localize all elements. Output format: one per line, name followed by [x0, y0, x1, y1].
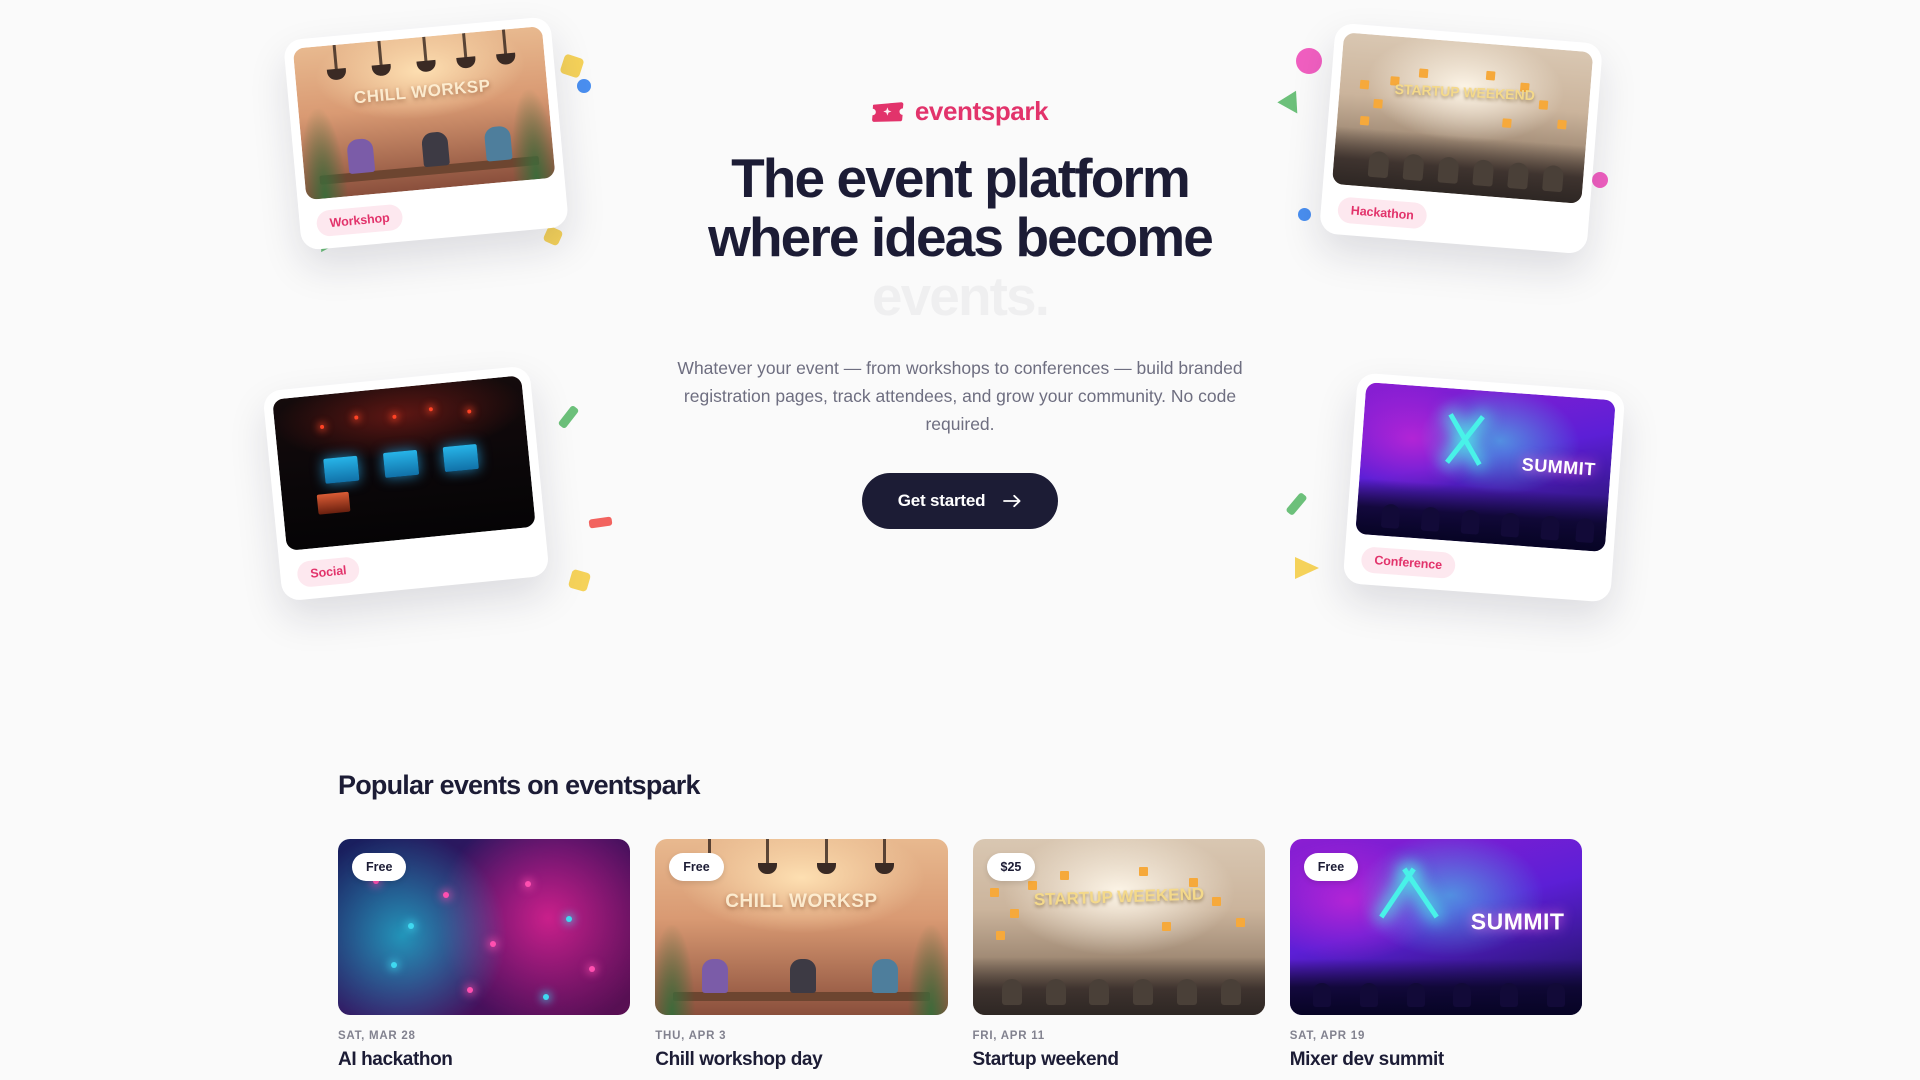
page-title: The event platform where ideas become ev…: [650, 149, 1270, 326]
floating-card-hackathon[interactable]: STARTUP WEEKEND Hackathon: [1319, 23, 1603, 255]
hero-section: CHILL WORKSP Workshop: [0, 0, 1920, 700]
event-date: SAT, MAR 28: [338, 1030, 630, 1042]
photo-wall-text: STARTUP WEEKEND: [1394, 82, 1535, 103]
floating-card-photo: CHILL WORKSP: [293, 26, 556, 200]
decor-square-yellow-left: [559, 53, 584, 78]
price-badge: $25: [987, 853, 1036, 881]
event-date: SAT, APR 19: [1290, 1030, 1582, 1042]
category-badge: Workshop: [316, 204, 404, 238]
decor-square-yellow-left2: [542, 225, 563, 246]
event-photo: CHILL WORKSP Free: [655, 839, 947, 1015]
event-photo: STARTUP WEEKEND $25: [973, 839, 1265, 1015]
brand-logo[interactable]: eventspark: [650, 96, 1270, 127]
floating-card-social[interactable]: Social: [262, 365, 549, 601]
event-title: Startup weekend: [973, 1049, 1265, 1071]
event-title: AI hackathon: [338, 1049, 630, 1071]
category-badge: Conference: [1360, 546, 1455, 579]
price-badge: Free: [1304, 853, 1358, 881]
popular-events-section: Popular events on eventspark Free: [338, 770, 1582, 1071]
headline-line-3-animated: events.: [650, 267, 1270, 326]
floating-card-photo: [272, 375, 536, 551]
headline-line-2: where ideas become: [708, 206, 1212, 268]
category-badge: Hackathon: [1337, 196, 1428, 229]
hero-content: eventspark The event platform where idea…: [650, 96, 1270, 529]
decor-triangle-yellow-lower-right: [1295, 557, 1319, 579]
event-card[interactable]: STARTUP WEEKEND $25 FRI, APR 11 Startup …: [973, 839, 1265, 1071]
decor-circle-pink-right: [1296, 48, 1322, 74]
hero-subtitle: Whatever your event — from workshops to …: [650, 354, 1270, 439]
decor-bar-green-lower-right: [1285, 492, 1307, 516]
category-badge: Social: [296, 556, 360, 588]
event-photo: Free: [338, 839, 630, 1015]
photo-wall-text: CHILL WORKSP: [353, 76, 491, 108]
event-date: FRI, APR 11: [973, 1030, 1265, 1042]
photo-wall-text: STARTUP WEEKEND: [1033, 885, 1204, 908]
price-badge: Free: [352, 853, 406, 881]
decor-circle-pink-right2: [1592, 172, 1608, 188]
event-photo: SUMMIT Free: [1290, 839, 1582, 1015]
floating-card-conference[interactable]: SUMMIT Conference: [1343, 372, 1626, 602]
floating-card-photo: SUMMIT: [1355, 382, 1615, 552]
decor-circle-blue-left: [577, 79, 591, 93]
event-grid: Free SAT, MAR 28 AI hackathon CHILL WORK…: [338, 839, 1582, 1071]
decor-circle-blue-right: [1298, 208, 1311, 221]
photo-wall-text: CHILL WORKSP: [725, 891, 877, 913]
brand-name: eventspark: [915, 96, 1048, 127]
get-started-button[interactable]: Get started: [862, 473, 1059, 529]
decor-bar-green-lower-left: [558, 405, 580, 429]
section-title: Popular events on eventspark: [338, 770, 1582, 801]
event-card[interactable]: CHILL WORKSP Free THU, APR 3 Chill works…: [655, 839, 947, 1071]
photo-wall-text: SUMMIT: [1521, 455, 1596, 481]
event-date: THU, APR 3: [655, 1030, 947, 1042]
floating-card-workshop[interactable]: CHILL WORKSP Workshop: [283, 16, 569, 250]
event-title: Chill workshop day: [655, 1049, 947, 1071]
event-card[interactable]: SUMMIT Free SAT, APR 19 Mixer dev summit: [1290, 839, 1582, 1071]
decor-triangle-green-right: [1277, 91, 1306, 120]
decor-bar-red-lower-left: [588, 516, 612, 528]
price-badge: Free: [669, 853, 723, 881]
arrow-right-icon: [1003, 494, 1022, 508]
floating-card-photo: STARTUP WEEKEND: [1332, 32, 1593, 204]
decor-square-yellow-lower-left: [568, 569, 592, 593]
get-started-label: Get started: [898, 491, 986, 511]
event-title: Mixer dev summit: [1290, 1049, 1582, 1071]
ticket-icon: [872, 101, 904, 123]
event-card[interactable]: Free SAT, MAR 28 AI hackathon: [338, 839, 630, 1071]
photo-wall-text: SUMMIT: [1471, 908, 1565, 935]
headline-line-1: The event platform: [731, 147, 1189, 209]
